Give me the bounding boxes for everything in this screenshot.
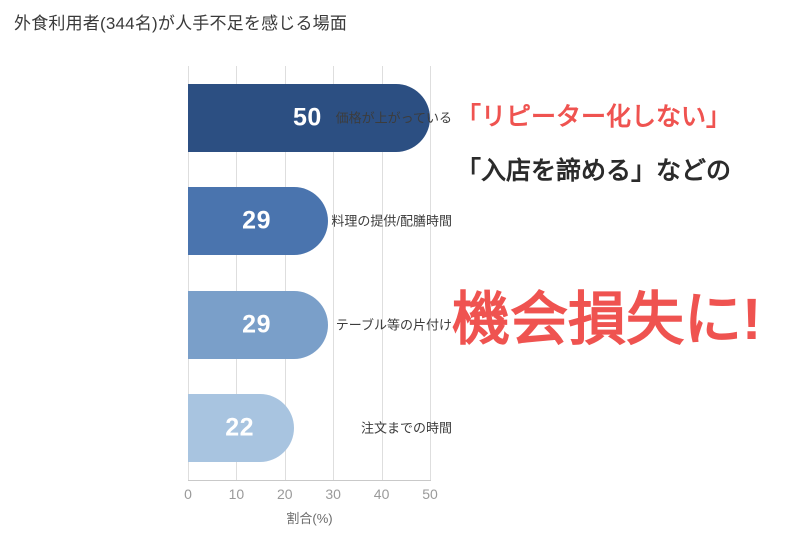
- chart-plot-wrapper: 50価格が上がっている29料理の提供/配膳時間29テーブル等の片付け22注文まで…: [0, 0, 460, 533]
- category-label-3: 注文までの時間: [282, 422, 460, 435]
- annotation-line-1: 「リピーター化しない」: [456, 103, 731, 132]
- x-axis-label: 割合(%): [188, 512, 431, 525]
- x-tick-label-20: 20: [277, 487, 293, 501]
- chart-page: 外食利用者(344名)が人手不足を感じる場面 50価格が上がっている29料理の提…: [0, 0, 800, 533]
- bar-3[interactable]: 22: [188, 394, 294, 462]
- x-tick-label-0: 0: [184, 487, 192, 501]
- category-label-1: 料理の提供/配膳時間: [282, 215, 460, 228]
- gridline-50: [430, 66, 431, 480]
- annotation-line-2: 「入店を諦める」などの: [456, 157, 731, 186]
- category-label-2: テーブル等の片付け: [282, 318, 460, 331]
- category-label-0: 価格が上がっている: [282, 111, 460, 124]
- bar-value-label-1: 29: [242, 209, 271, 234]
- bar-value-label-3: 22: [225, 416, 254, 441]
- x-axis-line: [188, 480, 431, 481]
- bar-value-label-2: 29: [242, 312, 271, 337]
- x-tick-label-50: 50: [422, 487, 438, 501]
- x-tick-label-30: 30: [325, 487, 341, 501]
- x-tick-label-40: 40: [374, 487, 390, 501]
- x-tick-label-10: 10: [229, 487, 245, 501]
- annotation-headline: 機会損失に!: [452, 288, 761, 352]
